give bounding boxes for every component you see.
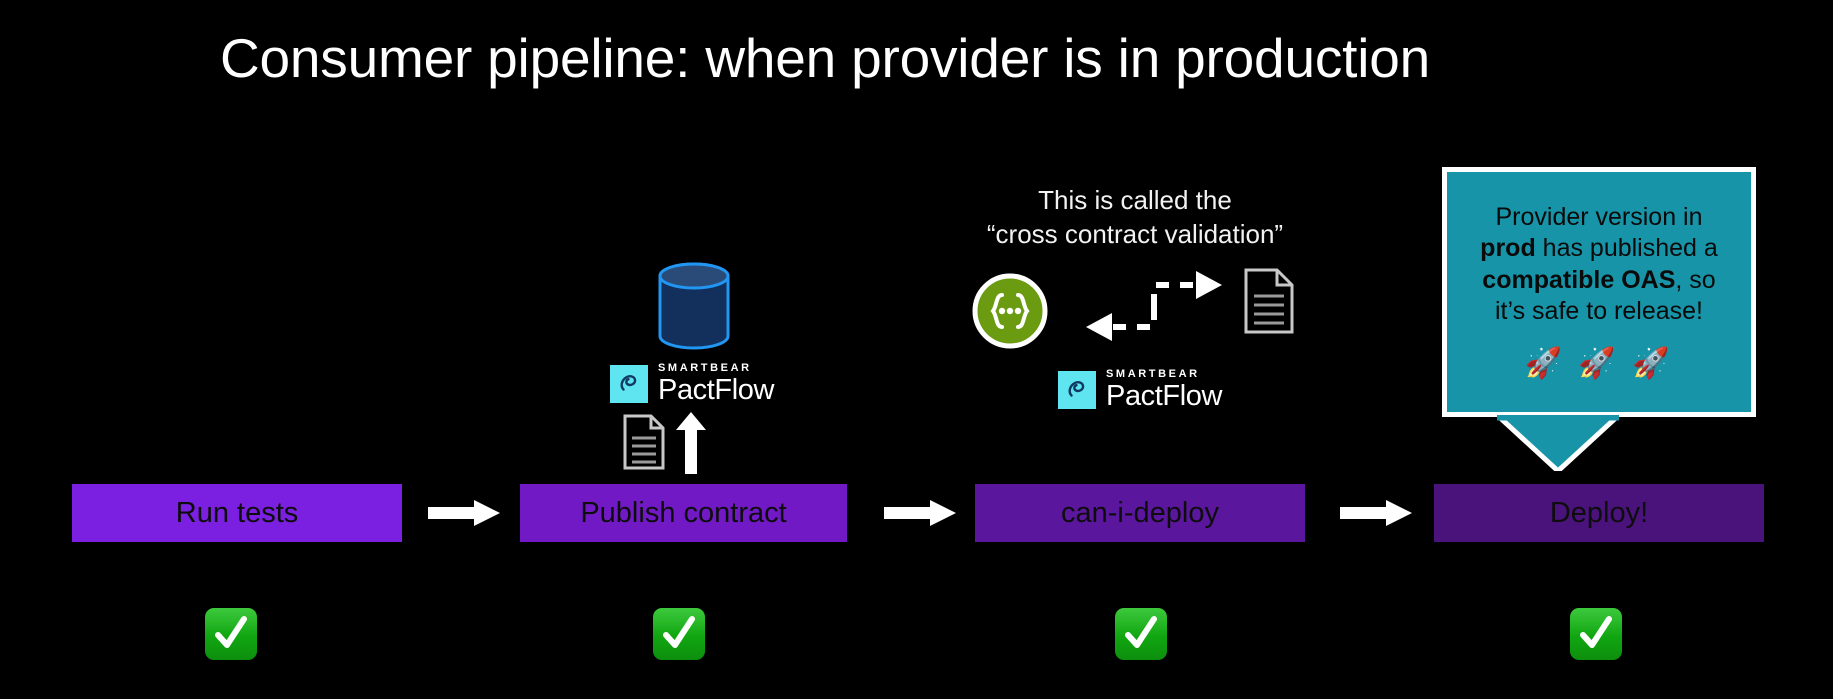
status-check-icon [205, 608, 261, 664]
contract-document-icon [622, 414, 666, 470]
status-check-icon [1570, 608, 1626, 664]
callout-body: Provider version in prod has published a… [1442, 167, 1756, 417]
arrow-up-icon [676, 412, 706, 474]
pipeline-arrow-icon [884, 500, 956, 526]
rocket-emoji-group: 🚀 🚀 🚀 [1525, 349, 1674, 379]
annotation-line-2: “cross contract validation” [985, 217, 1285, 251]
pactflow-mark-icon [1058, 371, 1096, 409]
pactflow-label: PactFlow [658, 376, 774, 405]
pactflow-wordmark: SMARTBEAR PactFlow [1106, 369, 1222, 411]
pipeline-stage-can-i-deploy[interactable]: can-i-deploy [975, 484, 1305, 542]
pactflow-logo: SMARTBEAR PactFlow [610, 363, 774, 405]
callout-tail-icon [1497, 415, 1619, 471]
oas-document-icon [1243, 268, 1295, 334]
callout-message: Provider version in prod has published a… [1465, 202, 1733, 327]
status-check-icon [653, 608, 709, 664]
status-check-icon [1115, 608, 1171, 664]
pipeline-stage-run-tests[interactable]: Run tests [72, 484, 402, 542]
callout-emphasis: compatible OAS [1482, 266, 1675, 294]
pipeline-stage-label: Run tests [176, 497, 299, 530]
pipeline-arrow-icon [428, 500, 500, 526]
pactflow-label: PactFlow [1106, 382, 1222, 411]
pipeline-stage-publish-contract[interactable]: Publish contract [520, 484, 847, 542]
cross-contract-validation-annotation: This is called the “cross contract valid… [985, 183, 1285, 252]
pipeline-stage-label: Deploy! [1550, 497, 1648, 530]
page-title: Consumer pipeline: when provider is in p… [0, 28, 1650, 89]
pipeline-stage-label: can-i-deploy [1061, 497, 1219, 530]
callout-bubble: Provider version in prod has published a… [1442, 167, 1756, 417]
smartbear-label: SMARTBEAR [658, 363, 774, 374]
dashed-exchange-arrows-icon [1046, 265, 1226, 357]
pactflow-mark-icon [610, 365, 648, 403]
slide-canvas: Consumer pipeline: when provider is in p… [0, 0, 1833, 699]
pipeline-arrow-icon [1340, 500, 1412, 526]
pactflow-wordmark: SMARTBEAR PactFlow [658, 363, 774, 405]
pipeline-stage-label: Publish contract [580, 497, 786, 530]
pactflow-logo: SMARTBEAR PactFlow [1058, 369, 1222, 411]
api-braces-icon [972, 273, 1048, 349]
smartbear-label: SMARTBEAR [1106, 369, 1222, 380]
callout-text: Provider version in [1495, 203, 1702, 231]
callout-text: has published a [1536, 234, 1718, 262]
annotation-line-1: This is called the [985, 183, 1285, 217]
database-cylinder-icon [648, 260, 740, 352]
pipeline-stage-deploy[interactable]: Deploy! [1434, 484, 1764, 542]
callout-emphasis: prod [1480, 234, 1536, 262]
